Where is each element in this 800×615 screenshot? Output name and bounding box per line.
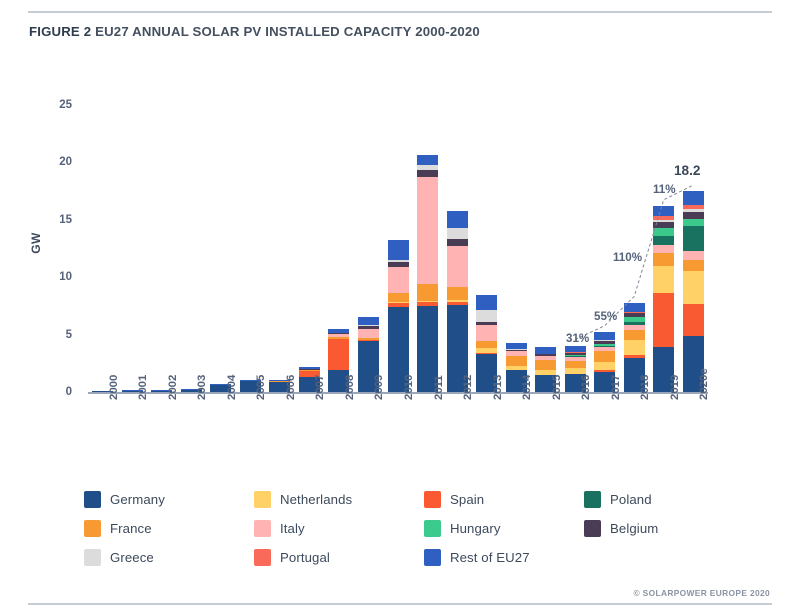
bar-segment-rest-of-eu27 [388, 240, 409, 260]
legend-label: Portugal [280, 550, 330, 565]
bar-segment-rest-of-eu27 [476, 295, 497, 310]
legend-swatch-icon [584, 520, 601, 537]
legend-swatch-icon [84, 520, 101, 537]
legend-swatch-icon [424, 520, 441, 537]
legend-swatch-icon [254, 520, 271, 537]
x-tick-2008: 2008 [344, 375, 356, 400]
bar-2006[interactable] [269, 0, 290, 392]
x-tick-2006: 2006 [285, 375, 297, 400]
legend-label: Italy [280, 521, 305, 536]
bar-2010[interactable] [388, 0, 409, 392]
bar-segment-greece [476, 310, 497, 322]
legend-swatch-icon [254, 491, 271, 508]
bar-2008[interactable] [328, 0, 349, 392]
bar-segment-rest-of-eu27 [447, 211, 468, 228]
bar-segment-italy [683, 251, 704, 260]
x-tick-2002: 2002 [167, 375, 179, 400]
bar-segment-belgium [417, 170, 438, 177]
x-tick-2000: 2000 [108, 375, 120, 400]
legend-label: Netherlands [280, 492, 352, 507]
bar-2014[interactable] [506, 0, 527, 392]
x-tick-2004: 2004 [226, 375, 238, 400]
bar-segment-italy [447, 246, 468, 287]
bar-segment-france [476, 341, 497, 348]
x-tick-2001: 2001 [137, 375, 149, 400]
bar-segment-france [624, 330, 645, 340]
bar-segment-rest-of-eu27 [535, 347, 556, 354]
x-tick-2012: 2012 [462, 375, 474, 400]
legend-swatch-icon [424, 491, 441, 508]
bar-2015[interactable] [535, 0, 556, 392]
legend-label: Rest of EU27 [450, 550, 530, 565]
x-tick-2015: 2015 [551, 375, 563, 400]
legend-item-france[interactable]: France [84, 520, 254, 537]
x-tick-2014: 2014 [521, 375, 533, 400]
bar-2018[interactable] [624, 0, 645, 392]
annotation-total-2020: 18.2 [674, 163, 700, 178]
legend-label: Germany [110, 492, 165, 507]
bar-segment-italy [417, 177, 438, 284]
bar-segment-france [417, 284, 438, 301]
x-tick-2010: 2010 [403, 375, 415, 400]
bar-segment-hungary [683, 219, 704, 226]
bar-2000[interactable] [92, 0, 113, 392]
legend-swatch-icon [424, 549, 441, 566]
x-tick-2020e: 2020e [698, 368, 710, 400]
bar-segment-netherlands [624, 340, 645, 355]
bar-2011[interactable] [417, 0, 438, 392]
bar-2007[interactable] [299, 0, 320, 392]
legend-swatch-icon [84, 491, 101, 508]
bar-segment-poland [683, 226, 704, 251]
legend-item-belgium[interactable]: Belgium [584, 520, 724, 537]
legend-label: Greece [110, 550, 154, 565]
legend-swatch-icon [254, 549, 271, 566]
legend-item-poland[interactable]: Poland [584, 491, 724, 508]
bar-segment-italy [653, 245, 674, 254]
annotation-growth-2019: 11% [653, 183, 676, 196]
legend-item-germany[interactable]: Germany [84, 491, 254, 508]
bar-segment-netherlands [594, 362, 615, 371]
bar-segment-france [683, 260, 704, 271]
bar-segment-italy [358, 329, 379, 337]
legend-item-rest-of-eu27[interactable]: Rest of EU27 [424, 549, 584, 566]
legend-label: Belgium [610, 521, 658, 536]
copyright-credit: © SOLARPOWER EUROPE 2020 [633, 588, 770, 598]
bar-segment-france [653, 253, 674, 266]
legend-item-hungary[interactable]: Hungary [424, 520, 584, 537]
annotation-growth-2017: 55% [594, 310, 617, 323]
bar-2005[interactable] [240, 0, 261, 392]
bottom-divider [28, 603, 772, 605]
legend-swatch-icon [84, 549, 101, 566]
x-tick-2003: 2003 [196, 375, 208, 400]
x-tick-2019: 2019 [669, 375, 681, 400]
bars-layer [0, 0, 800, 392]
legend-item-spain[interactable]: Spain [424, 491, 584, 508]
bar-segment-rest-of-eu27 [653, 206, 674, 216]
bar-2003[interactable] [181, 0, 202, 392]
bar-segment-france [447, 287, 468, 300]
legend-swatch-icon [584, 491, 601, 508]
bar-2013[interactable] [476, 0, 497, 392]
x-tick-2017: 2017 [610, 375, 622, 400]
legend-label: France [110, 521, 152, 536]
x-tick-2007: 2007 [314, 375, 326, 400]
figure-page: FIGURE 2 EU27 ANNUAL SOLAR PV INSTALLED … [0, 0, 800, 615]
bar-segment-spain [683, 304, 704, 336]
bar-segment-france [594, 351, 615, 361]
bar-2012[interactable] [447, 0, 468, 392]
bar-segment-rest-of-eu27 [358, 317, 379, 325]
bar-2002[interactable] [151, 0, 172, 392]
chart-legend: GermanyNetherlandsSpainPolandFranceItaly… [84, 485, 724, 572]
bar-segment-rest-of-eu27 [594, 332, 615, 340]
bar-segment-france [506, 356, 527, 367]
bar-segment-italy [388, 267, 409, 294]
x-tick-2018: 2018 [639, 375, 651, 400]
legend-item-italy[interactable]: Italy [254, 520, 424, 537]
bar-2020e[interactable] [683, 0, 704, 392]
x-tick-2013: 2013 [492, 375, 504, 400]
bar-segment-rest-of-eu27 [683, 191, 704, 205]
bar-segment-rest-of-eu27 [624, 303, 645, 312]
x-tick-2016: 2016 [580, 375, 592, 400]
x-tick-2005: 2005 [255, 375, 267, 400]
bar-segment-spain [328, 339, 349, 370]
bar-2009[interactable] [358, 0, 379, 392]
bar-2017[interactable] [594, 0, 615, 392]
bar-segment-poland [653, 236, 674, 245]
bar-segment-netherlands [653, 266, 674, 294]
annotation-growth-2016: 31% [566, 332, 589, 345]
legend-item-netherlands[interactable]: Netherlands [254, 491, 424, 508]
bar-segment-rest-of-eu27 [417, 155, 438, 165]
bar-2001[interactable] [122, 0, 143, 392]
legend-item-portugal[interactable]: Portugal [254, 549, 424, 566]
bar-segment-france [388, 293, 409, 302]
annotation-growth-2018: 110% [613, 251, 642, 264]
bar-segment-hungary [653, 228, 674, 236]
bar-segment-spain [653, 293, 674, 347]
legend-label: Hungary [450, 521, 501, 536]
chart-plot-area: GW 0510152025 20002001200220032004200520… [0, 0, 800, 470]
legend-label: Poland [610, 492, 652, 507]
x-tick-2011: 2011 [433, 375, 445, 400]
bar-segment-netherlands [683, 271, 704, 303]
bar-segment-belgium [447, 239, 468, 246]
bar-2019[interactable] [653, 0, 674, 392]
bar-segment-france [535, 360, 556, 370]
bar-segment-italy [476, 325, 497, 342]
bar-segment-rest-of-eu27 [506, 343, 527, 350]
legend-item-greece[interactable]: Greece [84, 549, 254, 566]
bar-segment-greece [447, 228, 468, 238]
x-tick-2009: 2009 [373, 375, 385, 400]
bar-2004[interactable] [210, 0, 231, 392]
legend-label: Spain [450, 492, 484, 507]
bar-segment-rest-of-eu27 [565, 346, 586, 353]
